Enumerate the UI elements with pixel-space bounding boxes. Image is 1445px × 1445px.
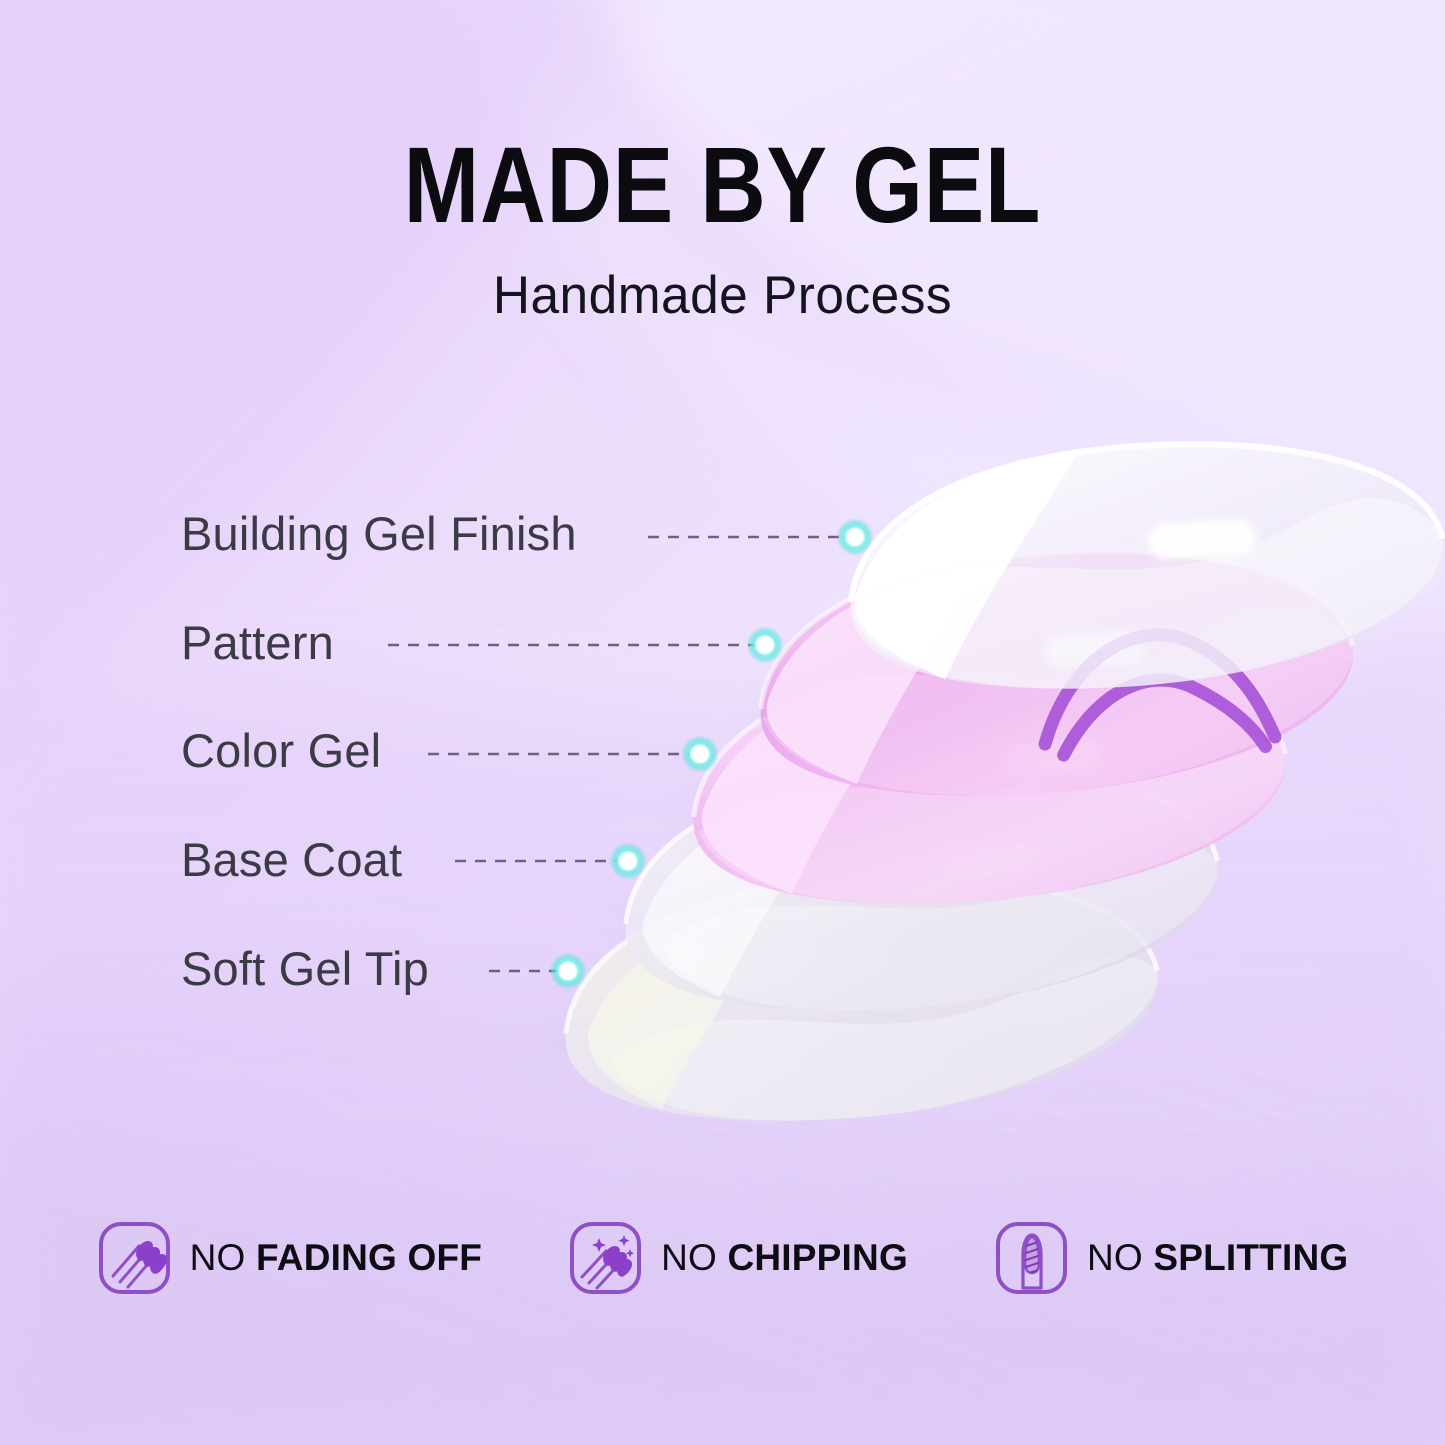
feature-badge-row: NO FADING OFF: [0, 1218, 1445, 1298]
marker-color-gel: [681, 735, 719, 773]
feature-emphasis: FADING OFF: [256, 1237, 482, 1278]
layer-label-building-gel-finish: Building Gel Finish: [181, 506, 577, 561]
layer-building-gel-finish: [843, 430, 1445, 701]
feature-no-chipping: NO CHIPPING: [568, 1218, 908, 1298]
feature-emphasis: CHIPPING: [727, 1237, 907, 1278]
nail-striped-icon: [994, 1218, 1069, 1298]
layer-label-color-gel: Color Gel: [181, 723, 381, 778]
feature-no-fading-off: NO FADING OFF: [97, 1218, 482, 1298]
feature-prefix: NO: [661, 1237, 727, 1278]
feature-label-no-fading-off: NO FADING OFF: [190, 1237, 482, 1279]
nails-fading-icon: [97, 1218, 172, 1298]
feature-emphasis: SPLITTING: [1153, 1237, 1348, 1278]
made-by-gel-infographic: MADE BY GEL Handmade Process: [0, 0, 1445, 1445]
marker-building-gel-finish: [836, 518, 874, 556]
nails-sparkle-icon: [568, 1218, 643, 1298]
feature-prefix: NO: [1087, 1237, 1153, 1278]
feature-prefix: NO: [190, 1237, 256, 1278]
layer-label-soft-gel-tip: Soft Gel Tip: [181, 941, 429, 996]
marker-soft-gel-tip: [549, 952, 587, 990]
layer-label-base-coat: Base Coat: [181, 832, 402, 887]
marker-pattern: [746, 626, 784, 664]
layer-label-pattern: Pattern: [181, 615, 334, 670]
marker-base-coat: [609, 842, 647, 880]
feature-label-no-chipping: NO CHIPPING: [661, 1237, 908, 1279]
feature-no-splitting: NO SPLITTING: [994, 1218, 1348, 1298]
feature-label-no-splitting: NO SPLITTING: [1087, 1237, 1348, 1279]
